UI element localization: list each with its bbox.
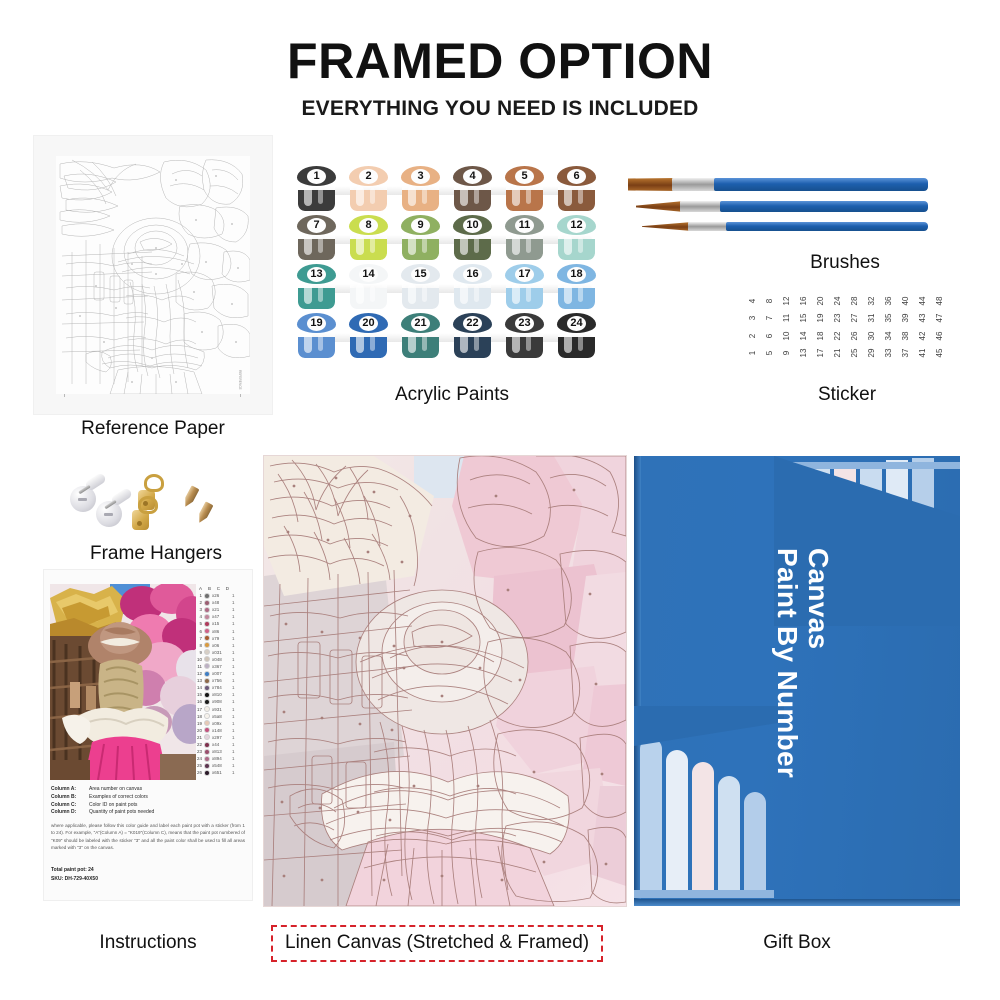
brush-flat — [628, 178, 928, 191]
paint-pot-highlight-2 — [578, 188, 583, 204]
legend-row: 1x261 — [195, 592, 247, 599]
paint-pot-lid: 20 — [349, 313, 388, 333]
legend-number: 25 — [195, 763, 202, 768]
total-paint-pots-value: 24 — [88, 867, 94, 873]
paint-pot-lid: 24 — [557, 313, 596, 333]
sticker-number: 21 — [834, 345, 842, 361]
paint-pot-19: 19 — [296, 313, 337, 360]
instructions-column-text: Color ID on paint pots — [89, 802, 137, 810]
legend-qty: 1 — [232, 657, 237, 662]
legend-row: 19x09x1 — [195, 720, 247, 727]
legend-number: 3 — [195, 607, 202, 612]
legend-qty: 1 — [232, 593, 237, 598]
sticker-number: 12 — [783, 293, 791, 309]
sticker-number: 6 — [766, 328, 774, 344]
paint-pot-lid: 9 — [401, 215, 440, 235]
sticker-number: 34 — [885, 328, 893, 344]
paint-pot-highlight — [408, 186, 416, 206]
paint-pot-2: 2 — [348, 166, 389, 213]
sticker-number: 16 — [800, 293, 808, 309]
instructions-column-text: Quantity of paint pots needed — [89, 809, 154, 817]
legend-swatch — [204, 742, 210, 748]
paint-pot-highlight-2 — [578, 335, 583, 351]
legend-code: x548 — [212, 763, 230, 768]
paint-pot-number: 21 — [411, 316, 430, 331]
instructions-note: where applicable, please follow this col… — [51, 822, 245, 852]
legend-swatch — [204, 671, 210, 677]
sticker-number: 28 — [851, 293, 859, 309]
sku-label: SKU: — [51, 876, 63, 882]
legend-qty: 1 — [232, 607, 237, 612]
paint-pot-highlight — [512, 235, 520, 255]
gift-box-title-line1: Canvas — [803, 548, 834, 778]
instructions-column-text: Area number on canvas — [89, 786, 142, 794]
paint-pot-number: 16 — [463, 267, 482, 282]
caption-brushes: Brushes — [740, 252, 950, 274]
legend-row: 17x9311 — [195, 706, 247, 713]
brush-round-fine — [642, 222, 928, 231]
legend-swatch — [204, 628, 210, 634]
paint-pot-highlight — [512, 333, 520, 353]
legend-number: 2 — [195, 600, 202, 605]
sticker-number: 2 — [749, 328, 757, 344]
paint-pot-number: 5 — [515, 169, 534, 184]
caption-gift-box: Gift Box — [634, 932, 960, 954]
paint-pot-lid: 12 — [557, 215, 596, 235]
paint-pot-highlight — [564, 186, 572, 206]
legend-qty: 1 — [232, 699, 237, 704]
paint-pot-number: 8 — [359, 218, 378, 233]
legend-row: 9x0311 — [195, 649, 247, 656]
sticker-number: 25 — [851, 345, 859, 361]
paint-pot-row: 123456 — [296, 166, 608, 215]
legend-row: 18x5a81 — [195, 713, 247, 720]
paint-pot-highlight-2 — [526, 335, 531, 351]
paint-pot-12: 12 — [556, 215, 597, 262]
paint-pot-number: 3 — [411, 169, 430, 184]
paint-pot-highlight-2 — [578, 286, 583, 302]
svg-text:REFERENCE: REFERENCE — [238, 370, 242, 390]
legend-swatch — [204, 734, 210, 740]
instructions-column-row: Column C:Color ID on paint pots — [51, 802, 245, 810]
paint-pot-number: 24 — [567, 316, 586, 331]
paint-pot-lid: 6 — [557, 166, 596, 186]
legend-swatch — [204, 756, 210, 762]
brushes-group — [628, 172, 928, 250]
legend-code: x756 — [212, 678, 230, 683]
legend-number: 22 — [195, 742, 202, 747]
paint-pot-lid: 19 — [297, 313, 336, 333]
paint-pot-highlight — [408, 284, 416, 304]
sticker-number: 35 — [885, 310, 893, 326]
legend-code: x894 — [212, 756, 230, 761]
sticker-number: 48 — [936, 293, 944, 309]
paint-pot-9: 9 — [400, 215, 441, 262]
legend-swatch — [204, 621, 210, 627]
legend-header-cell: A — [195, 586, 202, 591]
legend-swatch — [204, 685, 210, 691]
paint-pot-15: 15 — [400, 264, 441, 311]
caption-sticker: Sticker — [745, 384, 949, 406]
sticker-number: 45 — [936, 345, 944, 361]
paint-pot-number: 13 — [307, 267, 326, 282]
paint-pot-number: 11 — [515, 218, 534, 233]
paint-pot-highlight — [564, 284, 572, 304]
sticker-number: 29 — [868, 345, 876, 361]
paint-pot-6: 6 — [556, 166, 597, 213]
legend-number: 7 — [195, 636, 202, 641]
caption-reference-paper: Reference Paper — [34, 418, 272, 440]
paint-pot-highlight — [460, 186, 468, 206]
instructions-column-row: Column D:Quantity of paint pots needed — [51, 809, 245, 817]
legend-swatch — [204, 678, 210, 684]
paint-pot-highlight — [356, 284, 364, 304]
legend-number: 10 — [195, 657, 202, 662]
legend-number: 13 — [195, 678, 202, 683]
legend-code: x784 — [212, 685, 230, 690]
legend-number: 14 — [195, 685, 202, 690]
paint-pot-highlight-2 — [370, 335, 375, 351]
legend-row: 16x9081 — [195, 698, 247, 705]
legend-qty: 1 — [232, 664, 237, 669]
paint-pot-lid: 10 — [453, 215, 492, 235]
paint-pot-highlight-2 — [318, 188, 323, 204]
sticker-number: 8 — [766, 293, 774, 309]
paint-pot-highlight-2 — [578, 237, 583, 253]
legend-header-cell: B — [204, 586, 211, 591]
legend-row: 5x151 — [195, 620, 247, 627]
gift-box-title: Canvas Paint By Number — [771, 548, 834, 778]
legend-qty: 1 — [232, 629, 237, 634]
paint-pot-24: 24 — [556, 313, 597, 360]
legend-number: 1 — [195, 593, 202, 598]
sticker-number: 31 — [868, 310, 876, 326]
sku-value: DH-729-40X50 — [65, 876, 98, 882]
instructions-artwork-thumbnail — [50, 584, 196, 780]
sticker-number: 44 — [919, 293, 927, 309]
caption-frame-hangers: Frame Hangers — [46, 543, 266, 565]
sticker-number: 3 — [749, 310, 757, 326]
legend-swatch — [204, 720, 210, 726]
paint-pot-highlight — [408, 333, 416, 353]
paint-pot-highlight-2 — [422, 335, 427, 351]
paint-pot-lid: 3 — [401, 166, 440, 186]
sticker-number: 24 — [834, 293, 842, 309]
legend-qty: 1 — [232, 636, 237, 641]
paint-pot-7: 7 — [296, 215, 337, 262]
sticker-number: 37 — [902, 345, 910, 361]
legend-number: 20 — [195, 728, 202, 733]
sticker-number: 42 — [919, 328, 927, 344]
legend-row: 6x861 — [195, 627, 247, 634]
sticker-number: 39 — [902, 310, 910, 326]
paint-pot-highlight-2 — [474, 188, 479, 204]
legend-qty: 1 — [232, 735, 237, 740]
paint-pot-lid: 2 — [349, 166, 388, 186]
sticker-number: 38 — [902, 328, 910, 344]
instructions-column-key: Column A:Area number on canvasColumn B:E… — [51, 786, 245, 817]
sticker-number: 7 — [766, 310, 774, 326]
legend-row: 11x3671 — [195, 663, 247, 670]
paint-pot-23: 23 — [504, 313, 545, 360]
legend-row: 25x5481 — [195, 762, 247, 769]
legend-swatch — [204, 713, 210, 719]
paint-pot-number: 12 — [567, 218, 586, 233]
paint-pot-highlight-2 — [318, 237, 323, 253]
paint-pot-highlight — [564, 333, 572, 353]
legend-number: 24 — [195, 756, 202, 761]
legend-number: 12 — [195, 671, 202, 676]
legend-code: x44 — [212, 742, 230, 747]
legend-swatch — [204, 642, 210, 648]
legend-qty: 1 — [232, 650, 237, 655]
paint-pot-lid: 16 — [453, 264, 492, 284]
legend-number: 9 — [195, 650, 202, 655]
paint-pot-number: 4 — [463, 169, 482, 184]
paint-pot-highlight-2 — [422, 188, 427, 204]
sticker-number: 14 — [800, 328, 808, 344]
legend-code: x26 — [212, 593, 230, 598]
legend-number: 6 — [195, 629, 202, 634]
legend-row: 21x2971 — [195, 734, 247, 741]
paint-pot-20: 20 — [348, 313, 389, 360]
legend-swatch — [204, 692, 210, 698]
paint-pot-number: 10 — [463, 218, 482, 233]
paint-pot-highlight-2 — [370, 237, 375, 253]
legend-qty: 1 — [232, 756, 237, 761]
legend-number: 26 — [195, 770, 202, 775]
legend-row: 15x8101 — [195, 691, 247, 698]
caption-linen-canvas: Linen Canvas (Stretched & Framed) — [271, 925, 603, 962]
legend-qty: 1 — [232, 721, 237, 726]
sticker-number: 20 — [817, 293, 825, 309]
paint-pot-lid: 1 — [297, 166, 336, 186]
caption-acrylic-paints: Acrylic Paints — [296, 384, 608, 406]
legend-qty: 1 — [232, 692, 237, 697]
sticker-number: 19 — [817, 310, 825, 326]
paint-pot-lid: 22 — [453, 313, 492, 333]
paint-pot-highlight-2 — [526, 237, 531, 253]
screw-2 — [195, 501, 213, 525]
paint-pot-highlight — [304, 333, 312, 353]
sticker-number: 15 — [800, 310, 808, 326]
legend-swatch — [204, 663, 210, 669]
acrylic-paints-group: 123456789101112131415161718192021222324 — [296, 166, 608, 362]
instructions-column-row: Column A:Area number on canvas — [51, 786, 245, 794]
legend-code: x21 — [212, 607, 230, 612]
legend-row: 14x7841 — [195, 684, 247, 691]
legend-code: x5a8 — [212, 714, 230, 719]
sticker-number: 5 — [766, 345, 774, 361]
paint-pot-number: 18 — [567, 267, 586, 282]
legend-row: 23x8131 — [195, 748, 247, 755]
instructions-color-legend: ABCD1x2612x4813x2114x4715x1516x8617x7918… — [195, 584, 247, 780]
paint-pot-number: 19 — [307, 316, 326, 331]
paint-pot-number: 22 — [463, 316, 482, 331]
instructions-column-label: Column A: — [51, 786, 89, 794]
paint-pot-number: 15 — [411, 267, 430, 282]
legend-code: x86 — [212, 629, 230, 634]
paint-pot-8: 8 — [348, 215, 389, 262]
legend-header-row: ABCD — [195, 584, 247, 592]
legend-code: x810 — [212, 692, 230, 697]
paint-pot-lid: 13 — [297, 264, 336, 284]
paint-pot-1: 1 — [296, 166, 337, 213]
paint-pot-3: 3 — [400, 166, 441, 213]
paint-pot-highlight-2 — [318, 286, 323, 302]
sticker-number: 32 — [868, 293, 876, 309]
legend-header-cell: C — [213, 586, 220, 591]
instructions-column-label: Column B: — [51, 794, 89, 802]
reference-paper-lineart: REFERENCE — [56, 156, 250, 394]
legend-code: x47 — [212, 614, 230, 619]
instructions-totals: Total paint pot: 24 SKU: DH-729-40X50 — [51, 866, 98, 883]
sticker-number: 41 — [919, 345, 927, 361]
linen-canvas-image — [264, 456, 626, 906]
paint-pot-number: 20 — [359, 316, 378, 331]
sticker-number: 23 — [834, 310, 842, 326]
legend-swatch — [204, 699, 210, 705]
sticker-number: 13 — [800, 345, 808, 361]
legend-number: 8 — [195, 643, 202, 648]
legend-number: 11 — [195, 664, 202, 669]
instructions-column-row: Column B:Examples of correct colors — [51, 794, 245, 802]
legend-code: x15 — [212, 621, 230, 626]
paint-pot-number: 23 — [515, 316, 534, 331]
paint-pot-highlight-2 — [370, 188, 375, 204]
paint-pot-highlight — [460, 333, 468, 353]
sticker-sheet: 4321876512111091615141320191817242322212… — [744, 292, 948, 362]
sticker-number: 22 — [834, 328, 842, 344]
sticker-number: 9 — [783, 345, 791, 361]
paint-pot-lid: 7 — [297, 215, 336, 235]
legend-code: x79 — [212, 636, 230, 641]
legend-row: 10x0481 — [195, 656, 247, 663]
legend-number: 19 — [195, 721, 202, 726]
legend-qty: 1 — [232, 614, 237, 619]
total-paint-pots-label: Total paint pot: — [51, 867, 87, 873]
legend-swatch — [204, 600, 210, 606]
paint-pot-highlight — [408, 235, 416, 255]
sticker-number: 18 — [817, 328, 825, 344]
legend-swatch — [204, 763, 210, 769]
brush-round-medium — [636, 201, 928, 212]
legend-header-cell: D — [222, 586, 229, 591]
legend-number: 21 — [195, 735, 202, 740]
paint-pot-5: 5 — [504, 166, 545, 213]
legend-row: 3x211 — [195, 606, 247, 613]
legend-code: x007 — [212, 671, 230, 676]
sticker-number: 36 — [885, 293, 893, 309]
legend-swatch — [204, 614, 210, 620]
legend-qty: 1 — [232, 678, 237, 683]
legend-number: 4 — [195, 614, 202, 619]
legend-code: x031 — [212, 650, 230, 655]
paint-pot-highlight-2 — [526, 286, 531, 302]
legend-row: 2x481 — [195, 599, 247, 606]
legend-number: 15 — [195, 692, 202, 697]
paint-pot-lid: 14 — [349, 264, 388, 284]
legend-code: x931 — [212, 707, 230, 712]
paint-pot-row: 789101112 — [296, 215, 608, 264]
legend-number: 18 — [195, 714, 202, 719]
instructions-column-text: Examples of correct colors — [89, 794, 148, 802]
instructions-sheet: ABCD1x2612x4813x2114x4715x1516x8617x7918… — [44, 570, 252, 900]
paint-pot-lid: 11 — [505, 215, 544, 235]
paint-pot-lid: 15 — [401, 264, 440, 284]
sticker-number: 43 — [919, 310, 927, 326]
paint-pot-lid: 18 — [557, 264, 596, 284]
sticker-number: 10 — [783, 328, 791, 344]
instructions-column-label: Column C: — [51, 802, 89, 810]
legend-qty: 1 — [232, 685, 237, 690]
paint-pot-highlight-2 — [474, 286, 479, 302]
legend-number: 5 — [195, 621, 202, 626]
paint-pot-10: 10 — [452, 215, 493, 262]
paint-pot-21: 21 — [400, 313, 441, 360]
screw-1 — [181, 485, 199, 509]
paint-pot-highlight-2 — [526, 188, 531, 204]
paint-pot-number: 1 — [307, 169, 326, 184]
paint-pot-highlight-2 — [318, 335, 323, 351]
legend-qty: 1 — [232, 749, 237, 754]
sticker-number: 26 — [851, 328, 859, 344]
paint-pot-row: 131415161718 — [296, 264, 608, 313]
paint-pot-highlight — [304, 186, 312, 206]
paint-pot-lid: 21 — [401, 313, 440, 333]
gift-box-image: Canvas Paint By Number — [634, 456, 960, 906]
paint-pot-number: 14 — [359, 267, 378, 282]
legend-row: 4x471 — [195, 613, 247, 620]
paint-pot-highlight — [356, 333, 364, 353]
reference-paper-image: REFERENCE — [34, 136, 272, 414]
instructions-column-label: Column D: — [51, 809, 89, 817]
sticker-number: 30 — [868, 328, 876, 344]
paint-pot-highlight — [356, 235, 364, 255]
legend-number: 17 — [195, 707, 202, 712]
legend-row: 7x791 — [195, 635, 247, 642]
sticker-number: 4 — [749, 293, 757, 309]
sticker-number: 40 — [902, 293, 910, 309]
paint-pot-highlight — [460, 235, 468, 255]
paint-pot-number: 2 — [359, 169, 378, 184]
paint-pot-highlight-2 — [370, 286, 375, 302]
sticker-number: 47 — [936, 310, 944, 326]
legend-number: 23 — [195, 749, 202, 754]
caption-instructions: Instructions — [44, 932, 252, 954]
legend-row: 26x6511 — [195, 769, 247, 776]
legend-swatch — [204, 607, 210, 613]
legend-code: x367 — [212, 664, 230, 669]
gift-box-fan-bottom — [634, 714, 774, 906]
paint-pot-highlight-2 — [474, 237, 479, 253]
paint-pot-16: 16 — [452, 264, 493, 311]
page-subtitle: EVERYTHING YOU NEED IS INCLUDED — [0, 97, 1000, 121]
paint-pot-11: 11 — [504, 215, 545, 262]
legend-row: 22x441 — [195, 741, 247, 748]
legend-code: x297 — [212, 735, 230, 740]
sticker-number: 46 — [936, 328, 944, 344]
paint-pot-18: 18 — [556, 264, 597, 311]
legend-code: x48 — [212, 600, 230, 605]
paint-pot-highlight — [356, 186, 364, 206]
legend-qty: 1 — [232, 714, 237, 719]
paint-pot-number: 17 — [515, 267, 534, 282]
legend-qty: 1 — [232, 600, 237, 605]
paint-pot-highlight — [512, 186, 520, 206]
infographic-root: FRAMED OPTION EVERYTHING YOU NEED IS INC… — [0, 0, 1000, 1000]
legend-swatch — [204, 727, 210, 733]
